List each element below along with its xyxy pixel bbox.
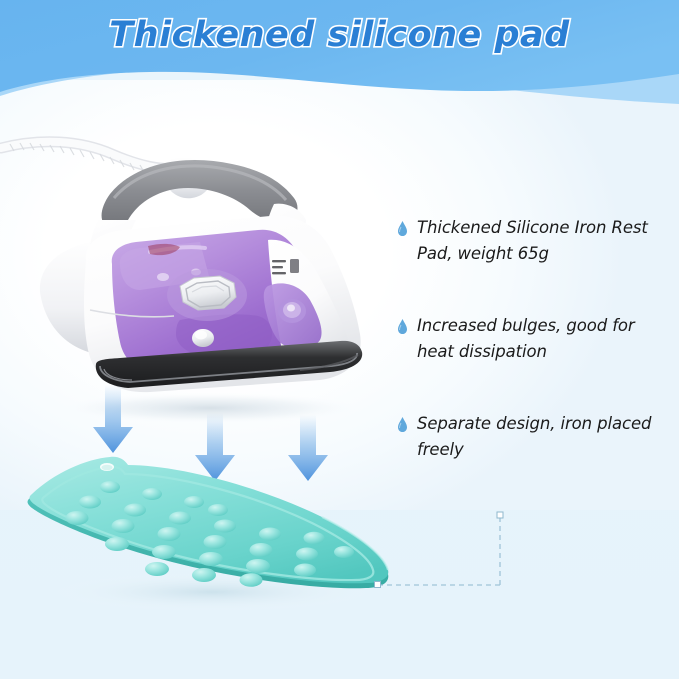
feature-text: Separate design, iron placed freely: [417, 411, 673, 463]
feature-text: Increased bulges, good for heat dissipat…: [417, 313, 673, 365]
product-infographic: Thickened silicone pad Thickened Silicon…: [0, 0, 679, 679]
list-item: Thickened Silicone Iron Rest Pad, weight…: [398, 215, 673, 267]
list-item: Increased bulges, good for heat dissipat…: [398, 313, 673, 365]
water-drop-icon: [398, 417, 407, 432]
measurement-guide: [370, 495, 530, 600]
water-drop-icon: [398, 319, 407, 334]
header-banner: Thickened silicone pad: [0, 0, 679, 112]
list-item: Separate design, iron placed freely: [398, 411, 673, 463]
feature-text: Thickened Silicone Iron Rest Pad, weight…: [417, 215, 673, 267]
water-drop-icon: [398, 221, 407, 236]
feature-list: Thickened Silicone Iron Rest Pad, weight…: [398, 215, 673, 499]
page-title: Thickened silicone pad: [0, 15, 679, 55]
silicone-pad-image: [22, 440, 422, 625]
